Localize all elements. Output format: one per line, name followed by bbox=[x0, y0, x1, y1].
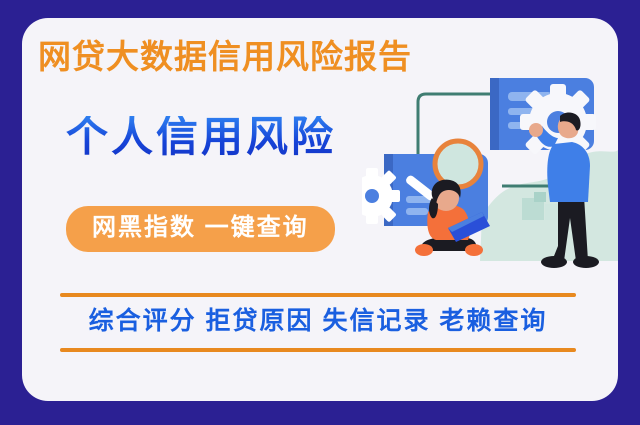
credit-risk-report-poster: 网贷大数据信用风险报告 个人信用风险 网黑指数 一键查询 综合评分 拒贷原因 失… bbox=[0, 0, 640, 425]
hill-box-icon bbox=[534, 192, 546, 202]
headline-blue: 个人信用风险 bbox=[66, 116, 336, 158]
band-rule-bottom bbox=[60, 348, 576, 352]
small-gear-icon bbox=[362, 168, 400, 224]
card-edge-icon bbox=[490, 78, 499, 150]
data-analysis-illustration bbox=[362, 46, 618, 296]
headline-orange: 网贷大数据信用风险报告 bbox=[38, 40, 412, 73]
poster-card: 网贷大数据信用风险报告 个人信用风险 网黑指数 一键查询 综合评分 拒贷原因 失… bbox=[22, 18, 618, 401]
feature-list: 综合评分 拒贷原因 失信记录 老赖查询 bbox=[60, 297, 576, 348]
feature-band: 综合评分 拒贷原因 失信记录 老赖查询 bbox=[60, 293, 576, 352]
query-cta-button[interactable]: 网黑指数 一键查询 bbox=[66, 206, 335, 252]
card-line-icon bbox=[406, 208, 428, 215]
